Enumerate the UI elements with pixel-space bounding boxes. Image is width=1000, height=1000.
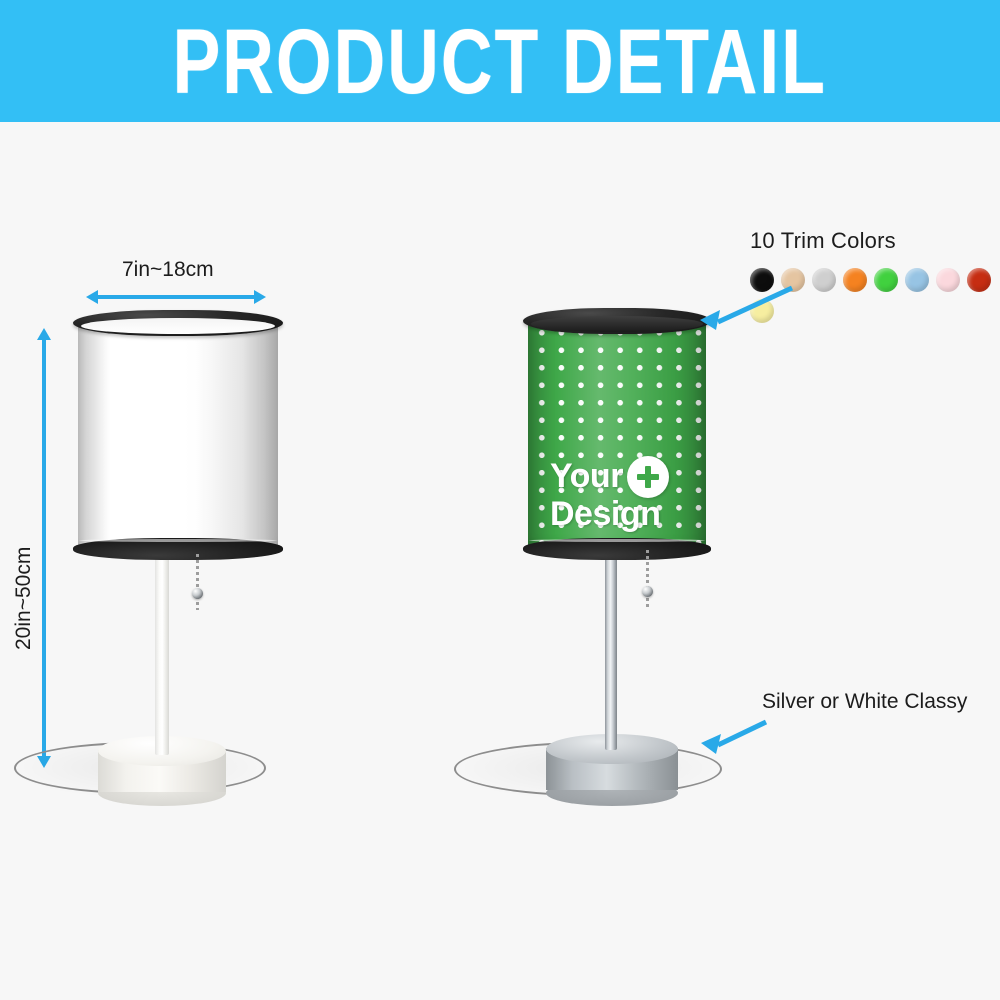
lamp-pole [605, 550, 617, 750]
shade-trim-top [523, 308, 711, 334]
lamp-height-label: 20in~50cm [12, 547, 36, 650]
page-banner: PRODUCT DETAIL [0, 0, 1000, 122]
shade-opening [531, 316, 704, 332]
base-finish-note: Silver or White Classy [762, 690, 967, 714]
trim-highlight [529, 539, 706, 542]
page-title: PRODUCT DETAIL [173, 15, 827, 107]
pull-chain-ball [192, 588, 203, 599]
shade-surface: Your Design [528, 318, 706, 548]
pull-chain-ball [642, 586, 653, 597]
shade-width-arrow [86, 290, 266, 304]
swatch-dark-red[interactable] [967, 268, 991, 292]
plus-icon [627, 456, 669, 498]
arrow-shaft [95, 295, 257, 299]
base-finish-callout-arrow [696, 718, 774, 758]
blank-white-lamp: 7in~18cm 20in~50cm [0, 150, 340, 850]
pull-chain [196, 554, 199, 610]
swatch-orange[interactable] [843, 268, 867, 292]
design-line-1-row: Your [550, 456, 688, 498]
shade-trim-bottom [523, 538, 711, 560]
product-detail-page: PRODUCT DETAIL 7in~18cm 20in~50cm [0, 0, 1000, 1000]
swatch-light-gray[interactable] [812, 268, 836, 292]
swatch-green[interactable] [874, 268, 898, 292]
trim-callout-arrow [694, 282, 800, 334]
pull-chain [646, 550, 649, 608]
shade-trim-bottom [73, 538, 283, 560]
lamp-shade: Your Design [528, 308, 706, 558]
lamp-height-arrow [37, 328, 51, 768]
shade-opening [81, 318, 274, 334]
trim-colors-title: 10 Trim Colors [750, 228, 1000, 254]
arrow-head-right [254, 290, 266, 304]
trim-highlight [79, 539, 276, 542]
shade-trim-top [73, 310, 283, 336]
lamp-shade [78, 310, 278, 558]
swatch-pink[interactable] [936, 268, 960, 292]
shade-sheen [78, 320, 278, 548]
design-line-2: Design [550, 498, 688, 531]
shade-surface [78, 320, 278, 548]
swatch-light-blue[interactable] [905, 268, 929, 292]
design-placeholder: Your Design [550, 456, 688, 531]
arrow-shaft [42, 337, 46, 759]
shade-width-label: 7in~18cm [122, 258, 214, 282]
lamp-pole [155, 555, 169, 755]
design-line-1: Your [550, 460, 623, 493]
